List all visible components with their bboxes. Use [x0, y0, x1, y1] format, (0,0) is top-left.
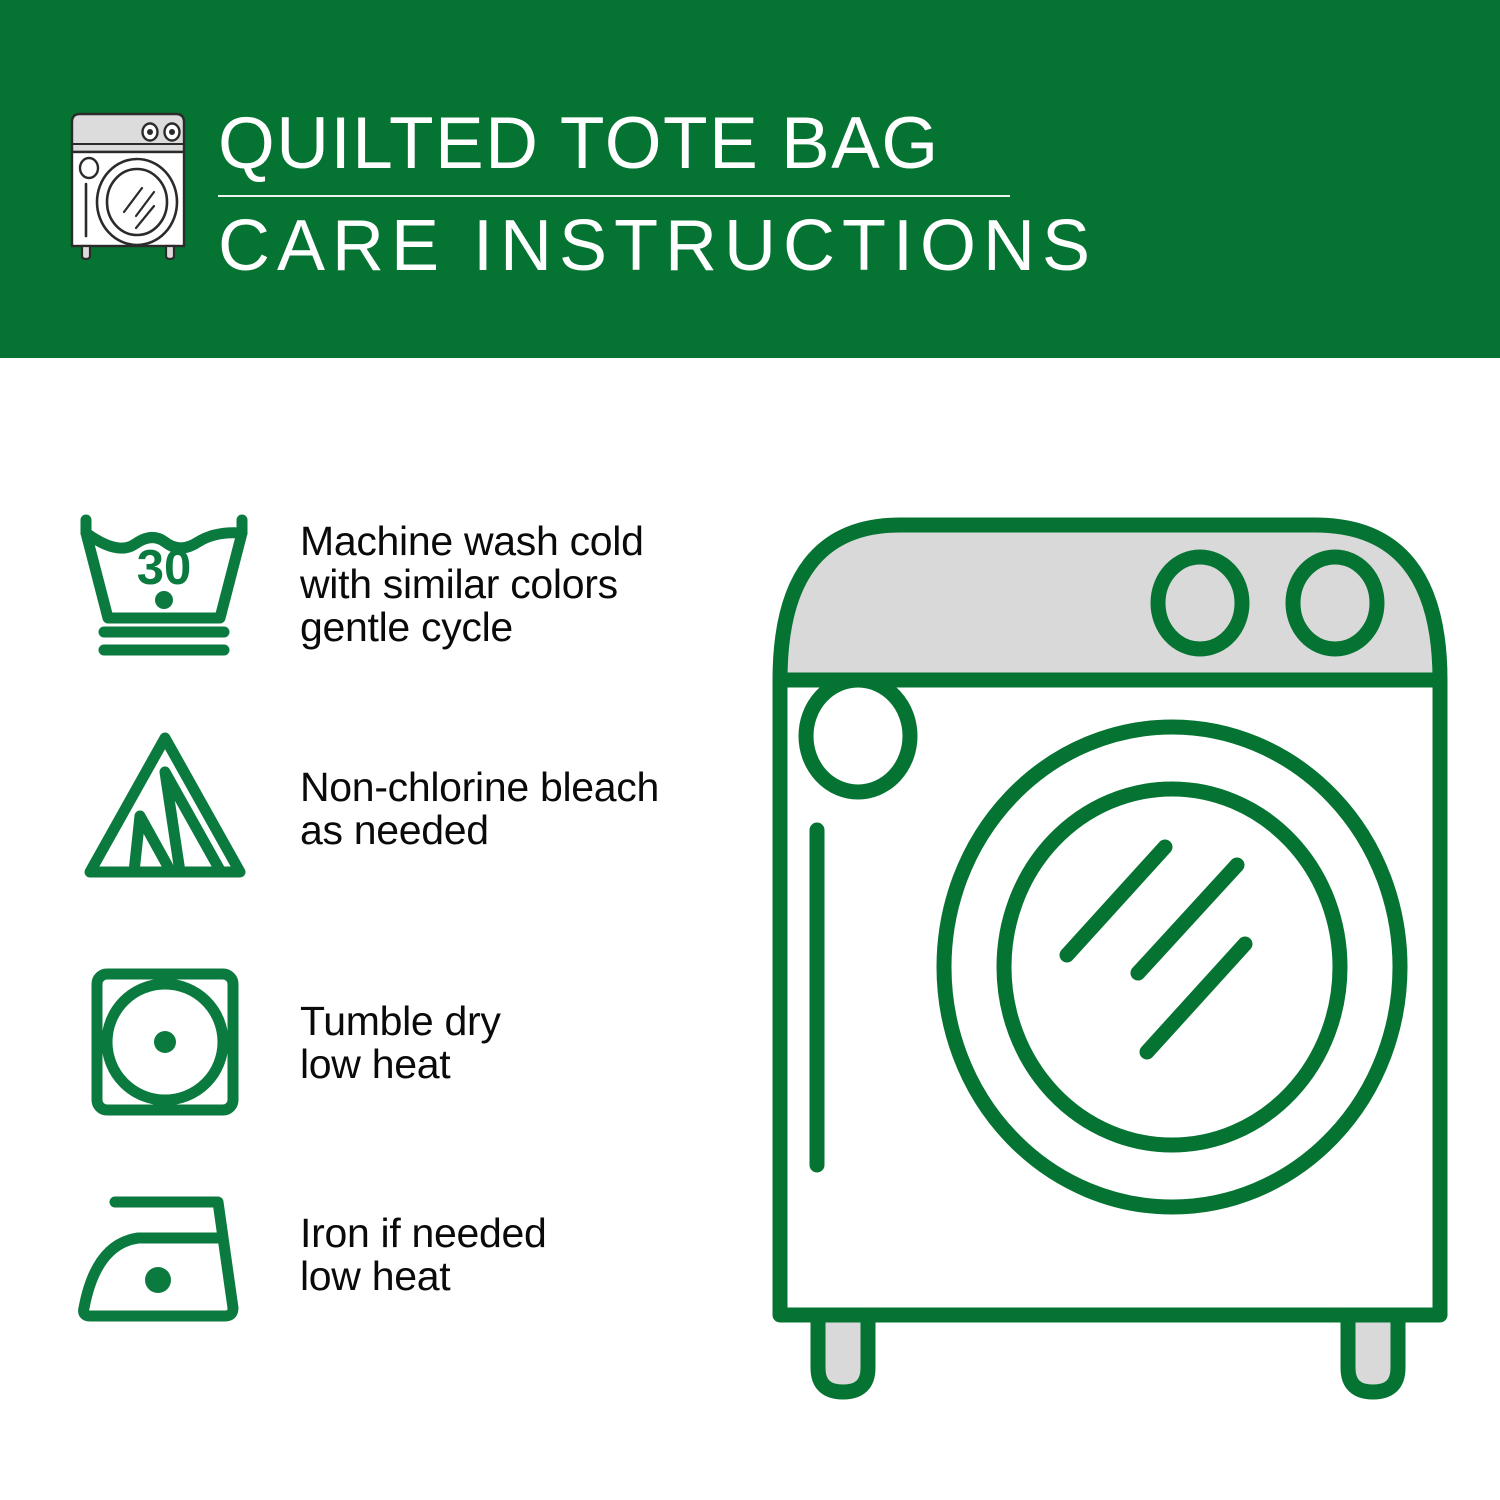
- title-divider: [218, 195, 1010, 197]
- body-dial: [806, 680, 910, 792]
- door-shine-lines: [1067, 847, 1245, 1052]
- header-banner: QUILTED TOTE BAG CARE INSTRUCTIONS: [0, 0, 1500, 358]
- page-title: QUILTED TOTE BAG: [218, 103, 1018, 185]
- care-line: Non-chlorine bleach: [300, 766, 720, 809]
- care-text-iron: Iron if needed low heat: [300, 1212, 720, 1298]
- machine-leg-left: [818, 1315, 868, 1392]
- care-row-tumble-dry: Tumble dry low heat: [0, 956, 720, 1171]
- header-title-block: QUILTED TOTE BAG CARE INSTRUCTIONS: [218, 103, 1018, 286]
- care-row-bleach: Non-chlorine bleach as needed: [0, 726, 720, 941]
- care-line: as needed: [300, 809, 720, 852]
- care-text-machine-wash: Machine wash cold with similar colors ge…: [300, 520, 720, 649]
- wash-temperature-label: 30: [137, 541, 192, 595]
- tumble-dry-low-heat-icon: [70, 956, 260, 1131]
- care-text-tumble-dry: Tumble dry low heat: [300, 1000, 720, 1086]
- page-subtitle: CARE INSTRUCTIONS: [218, 206, 1018, 286]
- door-outer-ring: [944, 727, 1400, 1207]
- care-instructions-list: 30 Machine wash cold with similar colors…: [0, 358, 740, 1500]
- care-line: Iron if needed: [300, 1212, 720, 1255]
- care-text-bleach: Non-chlorine bleach as needed: [300, 766, 720, 852]
- iron-low-heat-icon: [70, 1180, 260, 1355]
- control-panel-fill: [780, 525, 1440, 680]
- care-line: with similar colors: [300, 563, 720, 606]
- wash-tub-30-gentle-icon: 30: [70, 498, 260, 673]
- care-row-machine-wash: 30 Machine wash cold with similar colors…: [0, 498, 720, 713]
- front-load-washing-machine-illustration: [740, 480, 1470, 1440]
- care-line: Tumble dry: [300, 1000, 720, 1043]
- care-line: low heat: [300, 1255, 720, 1298]
- machine-leg-right: [1348, 1315, 1398, 1392]
- washing-machine-icon: [62, 108, 194, 260]
- care-row-iron: Iron if needed low heat: [0, 1180, 720, 1395]
- door-inner-ring: [1004, 789, 1340, 1145]
- care-line: gentle cycle: [300, 606, 720, 649]
- care-line: low heat: [300, 1043, 720, 1086]
- non-chlorine-bleach-triangle-icon: [70, 726, 260, 901]
- care-line: Machine wash cold: [300, 520, 720, 563]
